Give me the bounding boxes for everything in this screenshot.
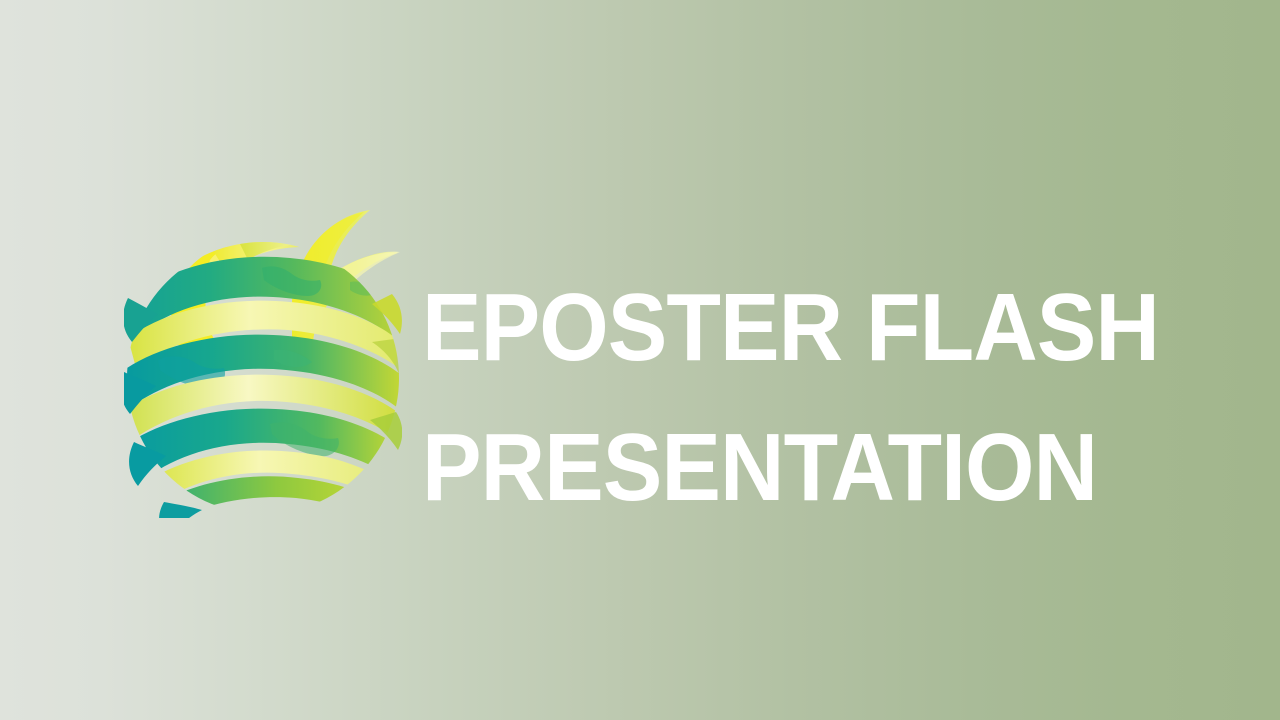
title-slide: EPOSTER FLASH PRESENTATION xyxy=(0,0,1280,720)
title-line-1: EPOSTER FLASH xyxy=(422,258,1166,398)
title-line-2: PRESENTATION xyxy=(422,398,1166,538)
slide-title: EPOSTER FLASH PRESENTATION xyxy=(422,258,1222,538)
globe-ribbon-logo xyxy=(124,202,402,518)
logo-globe-bands xyxy=(124,211,402,518)
